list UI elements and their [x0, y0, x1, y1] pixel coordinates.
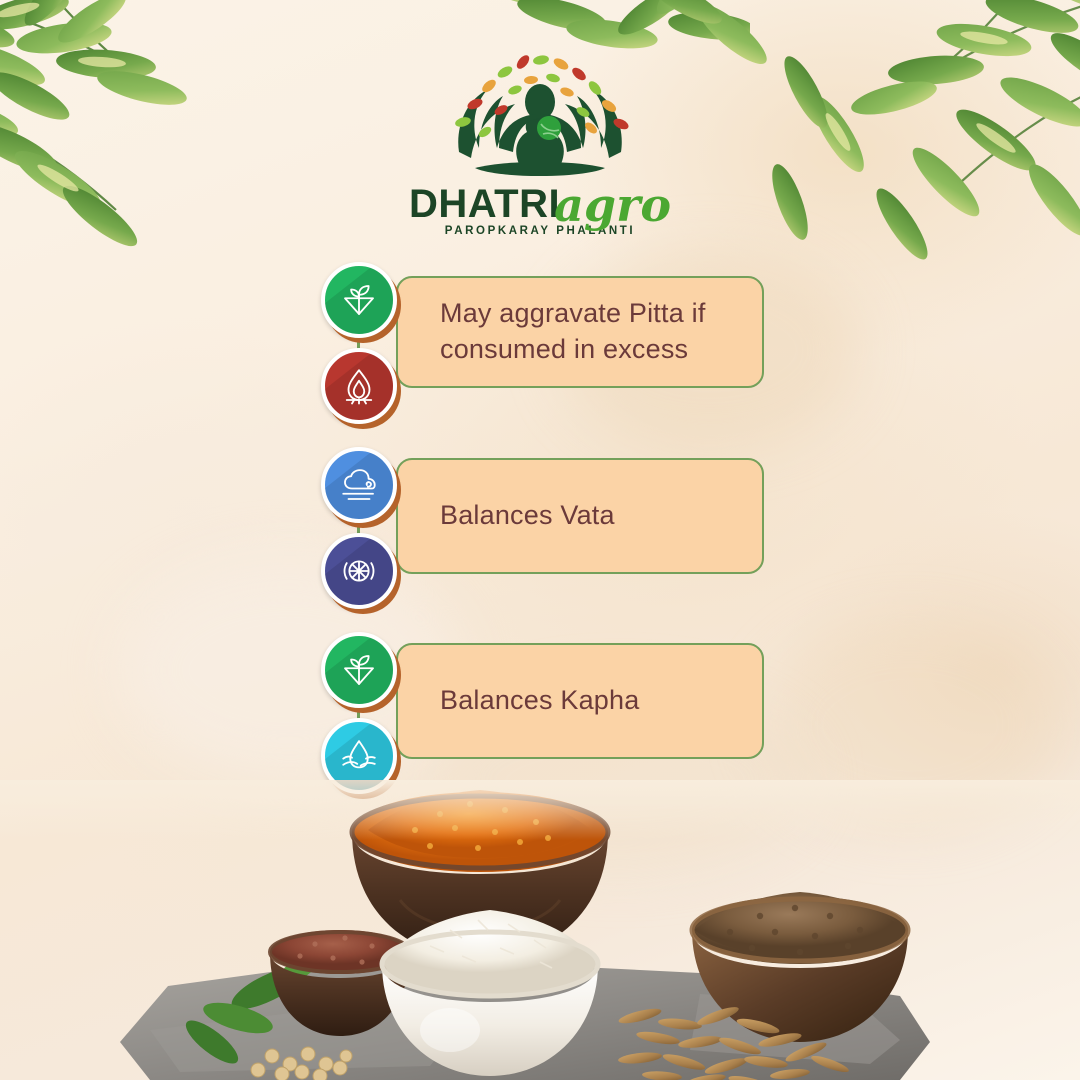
tree-with-meditating-figure-logo-mark	[445, 52, 635, 182]
card-row: Balances Vata	[0, 447, 1080, 632]
benefit-card-text: Balances Kapha	[398, 683, 657, 719]
benefit-card-text: May aggravate Pitta if consumed in exces…	[398, 296, 762, 367]
benefit-card[interactable]: Balances Vata	[396, 458, 764, 574]
benefit-card[interactable]: May aggravate Pitta if consumed in exces…	[396, 276, 764, 388]
sprout-funnel-icon[interactable]	[321, 262, 397, 338]
benefit-cards-list: May aggravate Pitta if consumed in exces…	[0, 262, 1080, 817]
benefit-card[interactable]: Balances Kapha	[396, 643, 764, 759]
air-swirl-icon[interactable]	[321, 533, 397, 609]
logo-brand-primary: DHATRI	[409, 184, 560, 224]
logo-wordmark: DHATRI agro	[409, 178, 671, 224]
grains-and-lentils-bowls-photo	[0, 780, 1080, 1080]
cloud-wind-icon[interactable]	[321, 447, 397, 523]
brand-logo: DHATRI agro PAROPKARAY PHALANTI	[0, 52, 1080, 237]
fire-flame-icon[interactable]	[321, 348, 397, 424]
water-drop-icon[interactable]	[321, 718, 397, 794]
card-row: May aggravate Pitta if consumed in exces…	[0, 262, 1080, 447]
benefit-card-text: Balances Vata	[398, 498, 633, 534]
infographic-canvas: DHATRI agro PAROPKARAY PHALANTI May aggr…	[0, 0, 1080, 1080]
logo-brand-secondary: agro	[554, 182, 671, 228]
sprout-funnel-icon[interactable]	[321, 632, 397, 708]
